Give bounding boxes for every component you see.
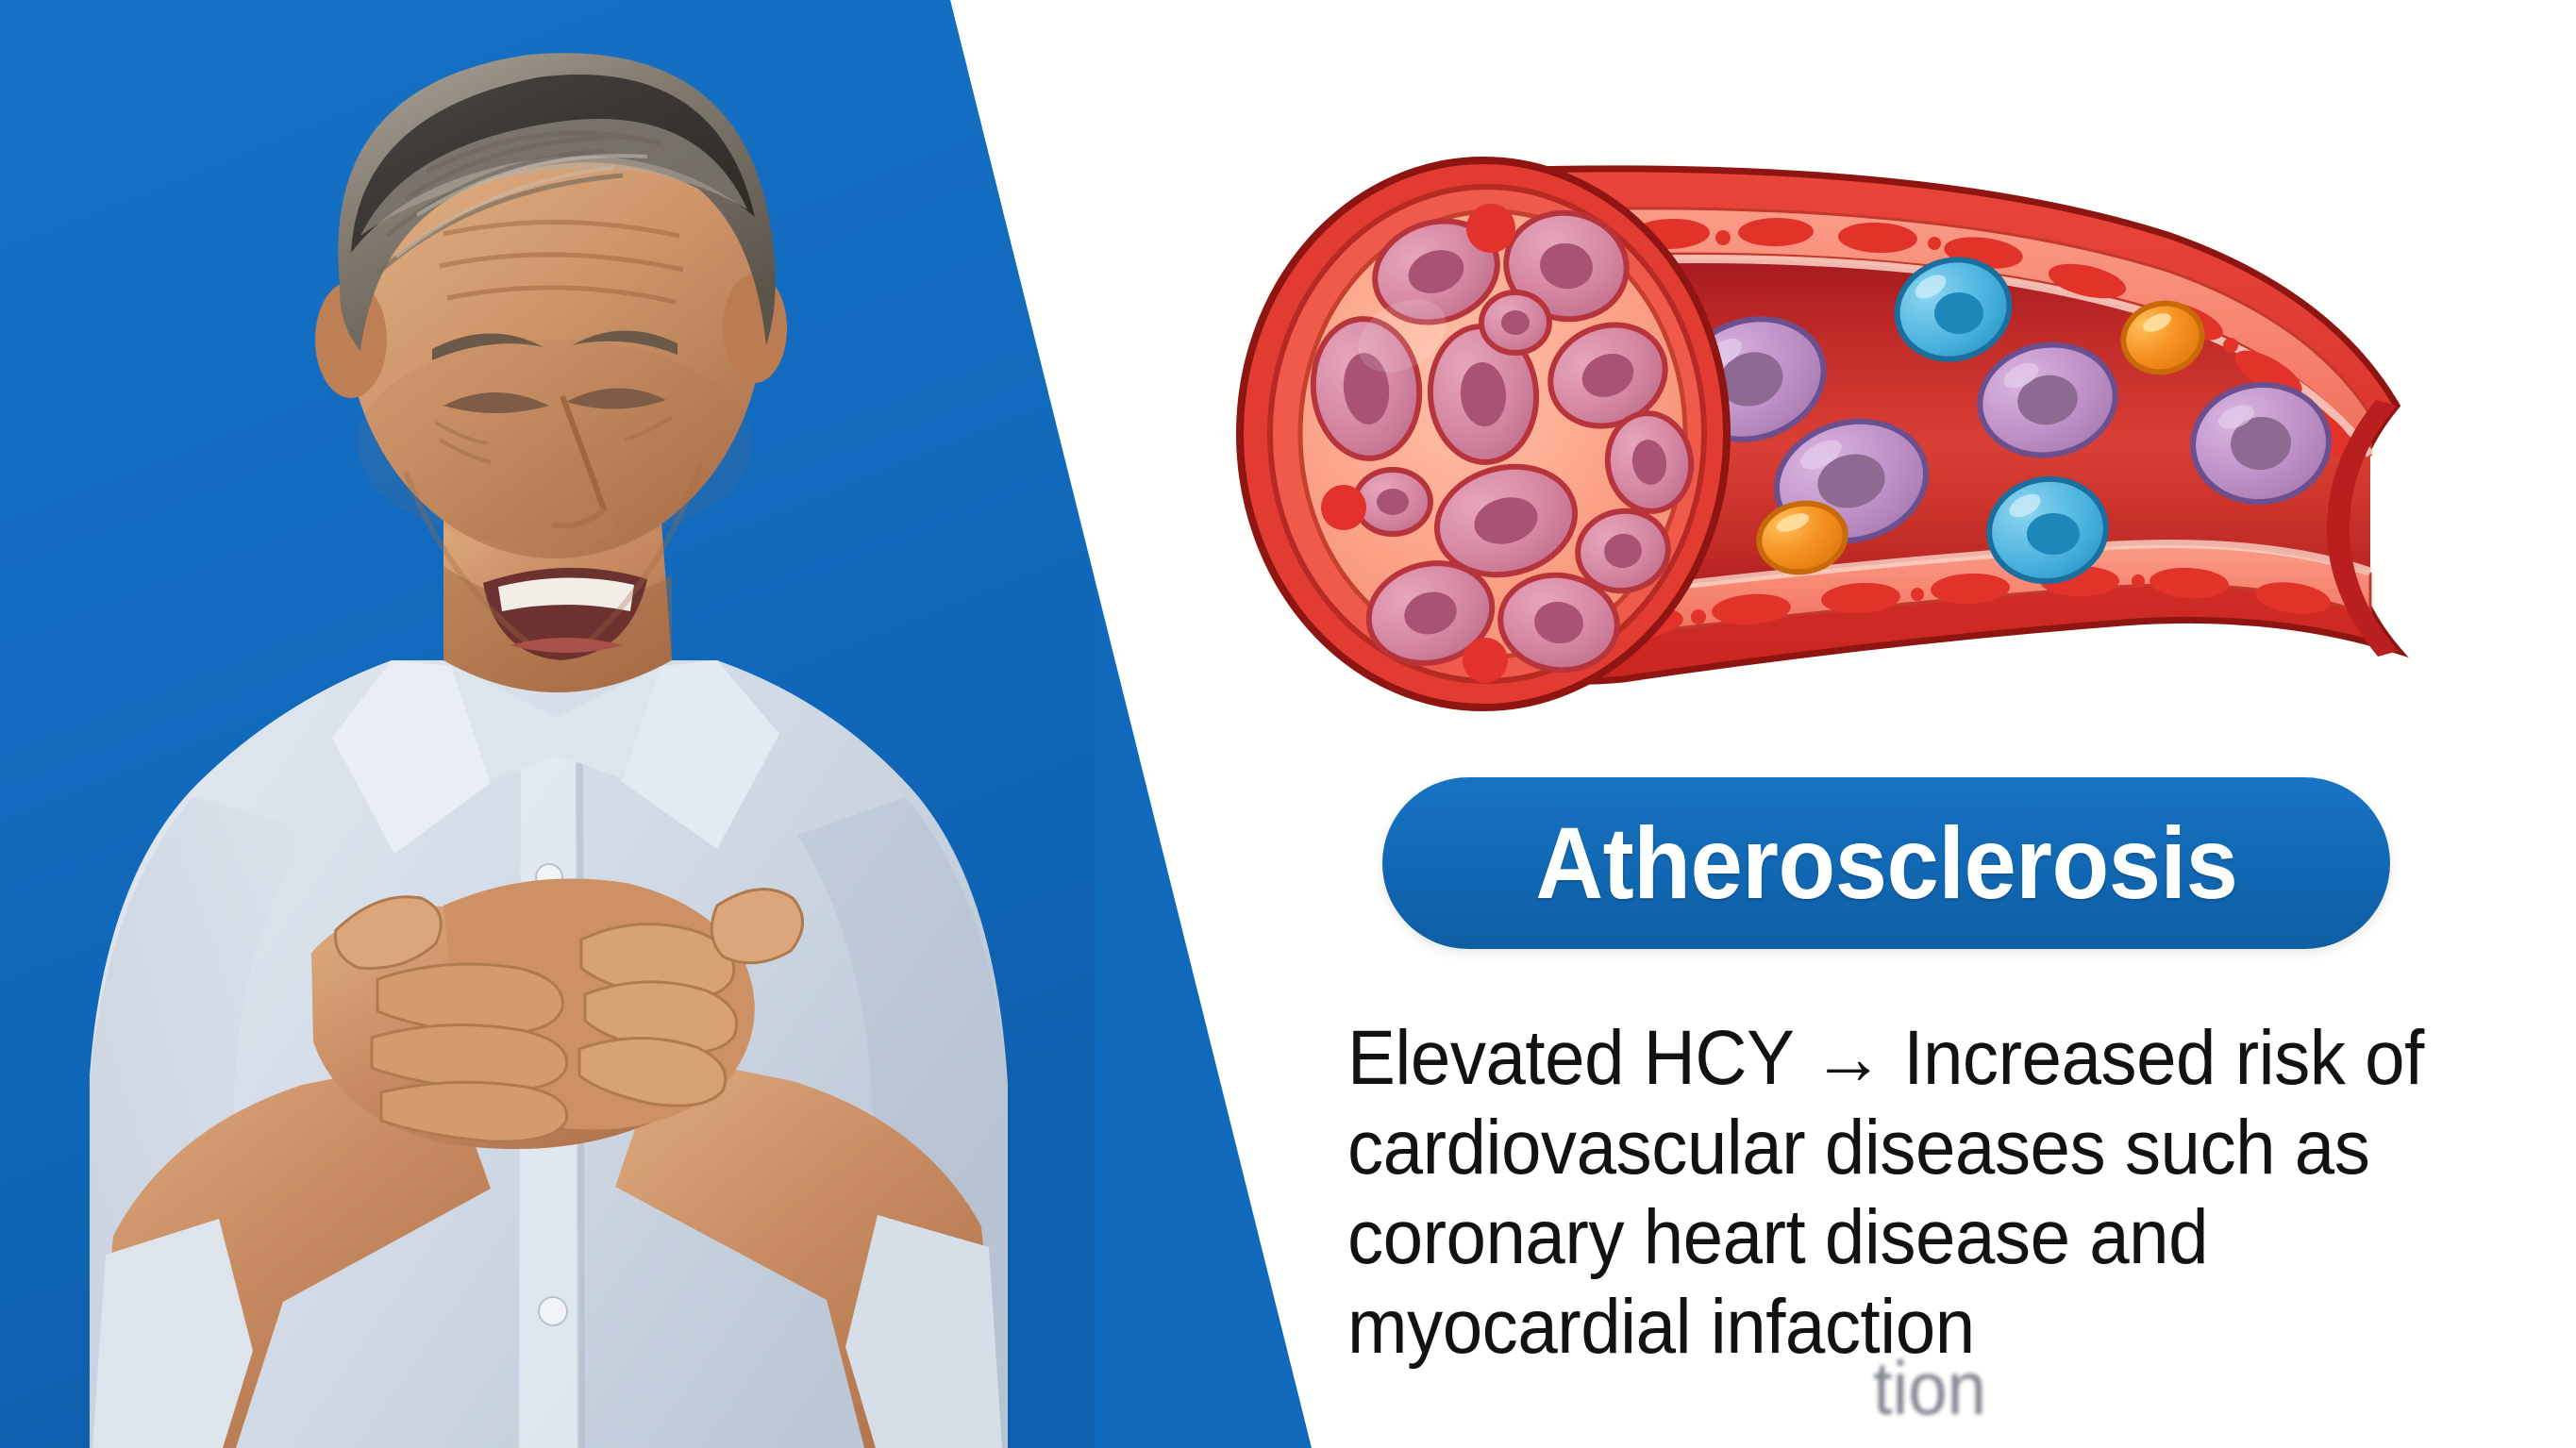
ai-watermark: 豆包AI生成 — [2222, 1309, 2529, 1394]
blood-vessel-illustration — [1217, 151, 2444, 792]
slide-canvas: Atherosclerosis Elevated HCY → Increased… — [0, 0, 2576, 1448]
text-render-artifact: tion — [1873, 1345, 1986, 1432]
patient-photo — [0, 0, 1095, 1448]
description-line-3: coronary heart disease and — [1347, 1192, 2488, 1282]
badge-label: Atherosclerosis — [1535, 812, 2237, 914]
atherosclerosis-badge[interactable]: Atherosclerosis — [1382, 777, 2390, 949]
description-line-2: cardiovascular diseases such as — [1347, 1103, 2488, 1192]
description-line-1: Elevated HCY → Increased risk of — [1347, 1013, 2488, 1103]
